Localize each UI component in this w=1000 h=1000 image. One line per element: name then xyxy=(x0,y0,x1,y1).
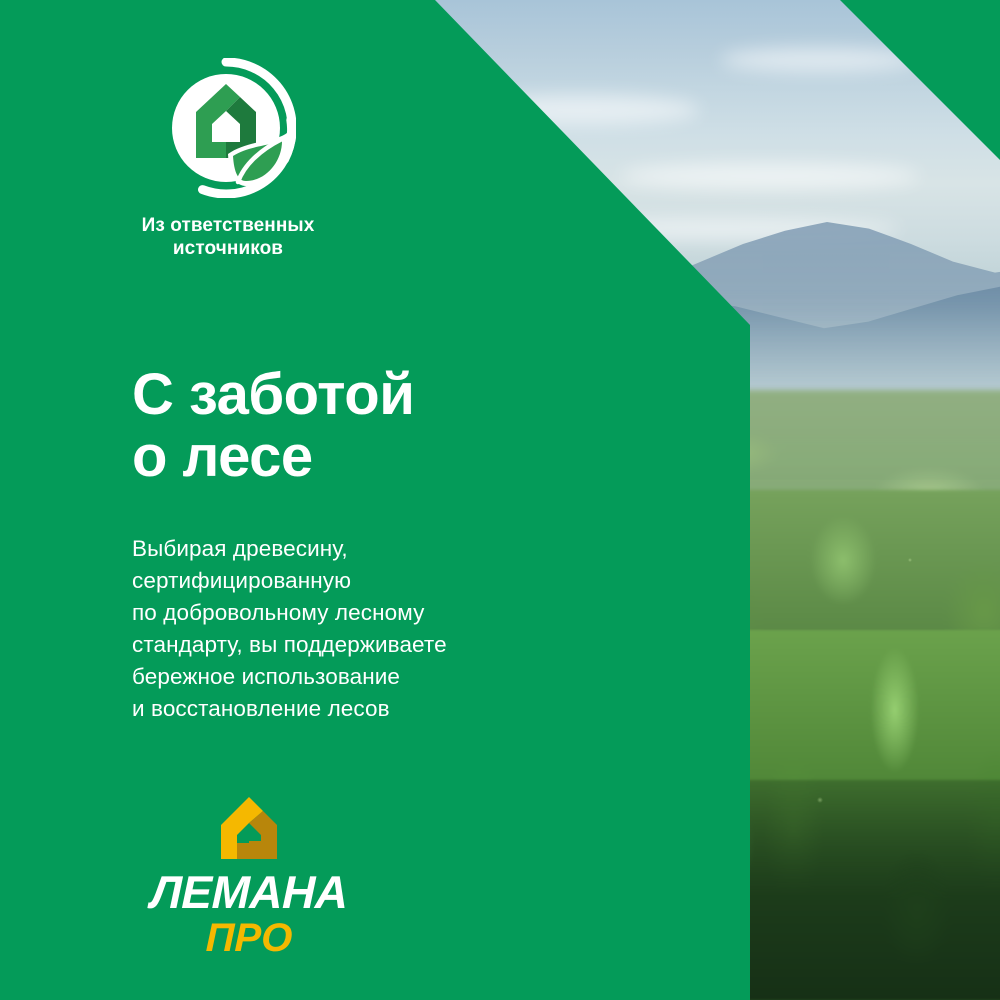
headline-line-2: о лесе xyxy=(132,426,592,489)
lemana-pro-suffix: ПРО xyxy=(134,917,365,959)
body-line-2: сертифицированную xyxy=(132,565,562,597)
certification-caption-line-2: источников xyxy=(173,238,283,259)
certification-caption: Из ответственных источников xyxy=(128,214,328,260)
body-line-5: бережное использование xyxy=(132,661,562,693)
poster-root: Из ответственных источников С заботой о … xyxy=(0,0,1000,1000)
body-copy: Выбирая древесину, сертифицированную по … xyxy=(132,533,562,725)
house-leaf-circle-icon xyxy=(156,58,296,198)
headline-line-1: С заботой xyxy=(132,364,592,427)
body-line-4: стандарту, вы поддерживаете xyxy=(132,629,562,661)
cloud-shape xyxy=(620,163,920,189)
certification-caption-line-1: Из ответственных xyxy=(142,215,315,236)
lemana-wordmark: ЛЕМАНА xyxy=(134,869,365,915)
page-title: С заботой о лесе xyxy=(132,364,592,489)
body-line-6: и восстановление лесов xyxy=(132,693,562,725)
cloud-shape xyxy=(720,48,920,72)
lemana-pro-logo: ЛЕМАНА ПРО xyxy=(134,795,364,959)
certification-badge: Из ответственных источников xyxy=(128,58,388,260)
lemana-house-icon xyxy=(213,795,285,861)
body-line-1: Выбирая древесину, xyxy=(132,533,562,565)
body-line-3: по добровольному лесному xyxy=(132,597,562,629)
